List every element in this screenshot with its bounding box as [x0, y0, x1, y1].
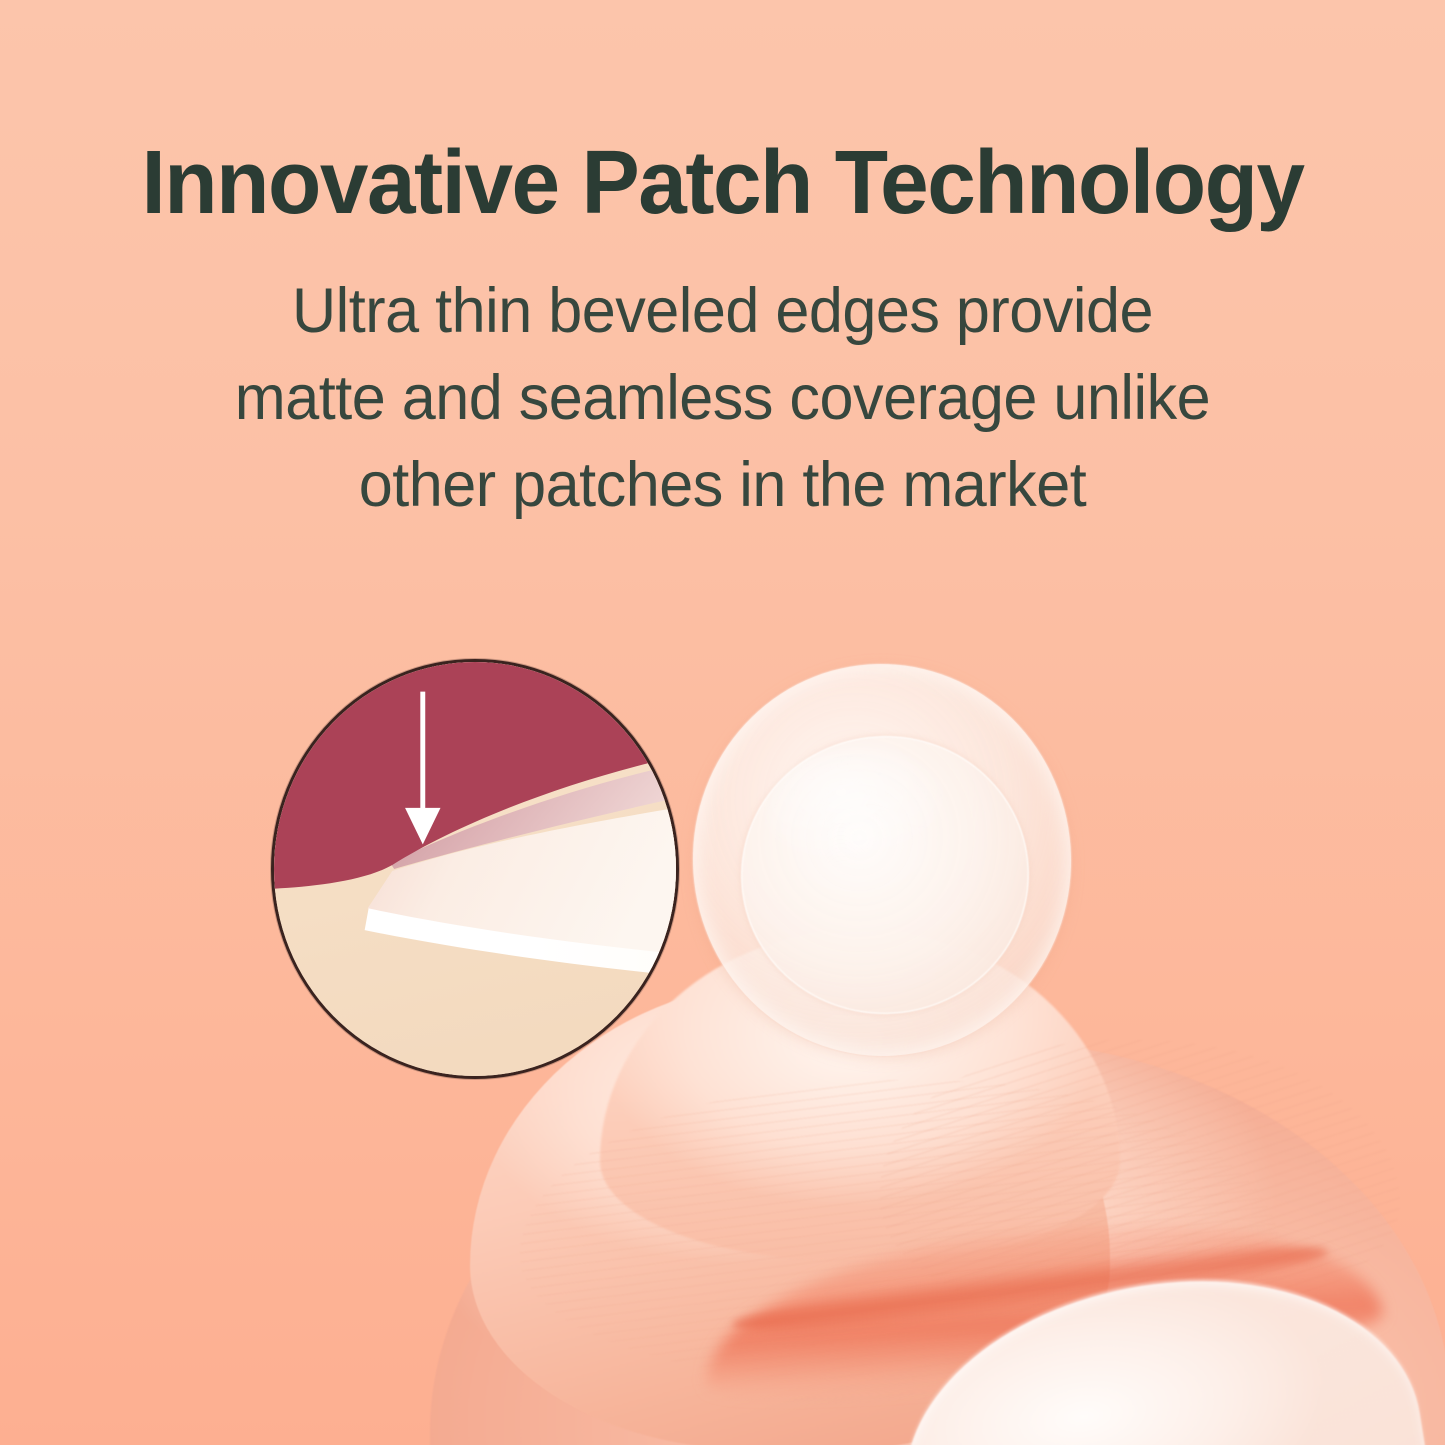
cross-section-magnifier	[271, 659, 679, 1079]
subtitle-line-1: Ultra thin beveled edges provide	[22, 268, 1424, 355]
subtitle-line-2: matte and seamless coverage unlike	[22, 355, 1424, 442]
cross-section-svg	[274, 662, 676, 1076]
page-title: Innovative Patch Technology	[22, 0, 1424, 230]
product-feature-poster: Innovative Patch Technology Ultra thin b…	[0, 0, 1445, 1445]
copy-block: Innovative Patch Technology Ultra thin b…	[0, 0, 1445, 529]
subtitle-line-3: other patches in the market	[22, 442, 1424, 529]
patch-gloss-highlight	[765, 750, 955, 870]
hydrocolloid-patch	[693, 664, 1071, 1056]
page-subtitle: Ultra thin beveled edges provide matte a…	[22, 230, 1424, 529]
